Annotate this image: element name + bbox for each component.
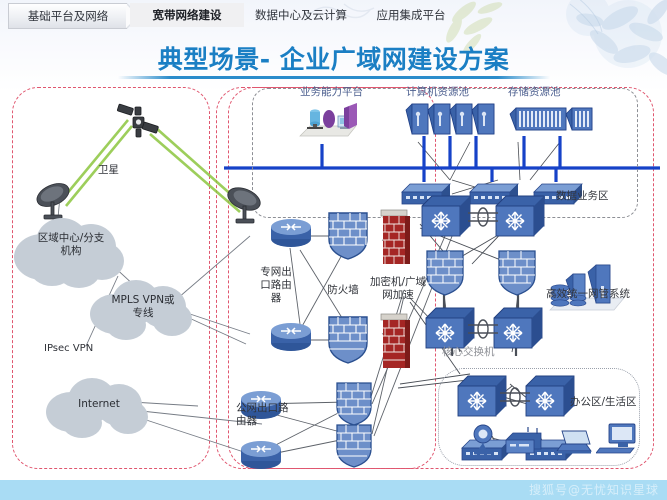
satellite-label: 卫星 bbox=[98, 164, 119, 177]
office-vsu-link-icon bbox=[498, 386, 532, 408]
core-vsu-link-icon bbox=[466, 318, 500, 340]
firewall-top-icon bbox=[326, 210, 370, 262]
core-firewall-right-icon bbox=[496, 248, 538, 298]
network-diagram: 卫星 区 bbox=[0, 84, 667, 480]
encryptor-wan-accel-label: 加密机/广域网加速 bbox=[366, 276, 430, 302]
public-egress-router-bottom-icon bbox=[238, 438, 284, 470]
firewall-label: 防火墙 bbox=[318, 284, 368, 297]
satellite-dish-right-icon bbox=[222, 184, 266, 228]
core-switch-right-icon bbox=[492, 304, 548, 352]
watermark: 搜狐号@无忧知识星球 bbox=[529, 481, 659, 499]
tab-app-integration[interactable]: 应用集成平台 bbox=[358, 3, 464, 27]
storage-resource-pool-icon bbox=[508, 102, 594, 140]
public-egress-router-label: 公网出口路由器 bbox=[236, 402, 296, 428]
tab-broadband-network[interactable]: 宽带网络建设 bbox=[130, 3, 244, 27]
tab-foundation-platform[interactable]: 基础平台及网络 bbox=[8, 3, 127, 29]
branch-cloud-label: 区域中心/分支机构 bbox=[6, 232, 136, 258]
private-egress-router-label: 专网出口路由器 bbox=[258, 266, 294, 305]
compute-resource-pool-icon bbox=[404, 98, 500, 140]
ipsec-vpn-label: IPsec VPN bbox=[44, 342, 93, 355]
laptop-icon bbox=[552, 428, 592, 456]
aggregation-vsu-link-icon bbox=[466, 206, 500, 228]
tab-bar: 基础平台及网络 宽带网络建设 数据中心及云计算 应用集成平台 bbox=[0, 0, 667, 30]
tab-label: 基础平台及网络 bbox=[28, 9, 109, 23]
data-service-zone-label: 数据业务区 bbox=[556, 190, 609, 203]
core-switch-label: 核心交换机 bbox=[442, 346, 495, 359]
firewall-bottom-icon bbox=[326, 314, 370, 366]
unified-nms-label: 高效统一网管系统 bbox=[546, 288, 630, 301]
encryptor-bottom-icon bbox=[378, 310, 412, 372]
internet-cloud: Internet bbox=[40, 374, 158, 440]
screenshot-root: 基础平台及网络 宽带网络建设 数据中心及云计算 应用集成平台 典型场景- 企业广… bbox=[0, 0, 667, 500]
mpls-cloud-label: MPLS VPN或专线 bbox=[84, 294, 202, 320]
wireless-ap-icon bbox=[504, 426, 546, 456]
encryptor-top-icon bbox=[378, 206, 412, 268]
mpls-cloud: MPLS VPN或专线 bbox=[84, 276, 202, 342]
private-egress-router-bottom-icon bbox=[268, 320, 314, 352]
storage-resource-pool-label: 存储资源池 bbox=[508, 86, 561, 99]
internet-cloud-label: Internet bbox=[40, 398, 158, 411]
service-capability-platform-label: 业务能力平台 bbox=[300, 86, 363, 99]
internet-firewall-top-icon bbox=[334, 380, 374, 428]
desktop-pc-icon bbox=[596, 422, 638, 456]
internet-firewall-bottom-icon bbox=[334, 422, 374, 470]
office-living-zone-label: 办公区/生活区 bbox=[570, 396, 637, 409]
private-egress-router-top-icon bbox=[268, 216, 314, 248]
camera-icon bbox=[470, 424, 500, 456]
title-underline bbox=[118, 76, 550, 79]
service-capability-platform-icon bbox=[296, 100, 362, 144]
satellite-icon bbox=[116, 102, 160, 142]
compute-resource-pool-label: 计算机资源池 bbox=[406, 86, 469, 99]
page-title: 典型场景- 企业广域网建设方案 bbox=[0, 40, 667, 76]
aggregation-switch-right-icon bbox=[494, 192, 550, 240]
core-firewall-left-icon bbox=[424, 248, 466, 298]
tab-datacenter-cloud[interactable]: 数据中心及云计算 bbox=[246, 3, 356, 27]
